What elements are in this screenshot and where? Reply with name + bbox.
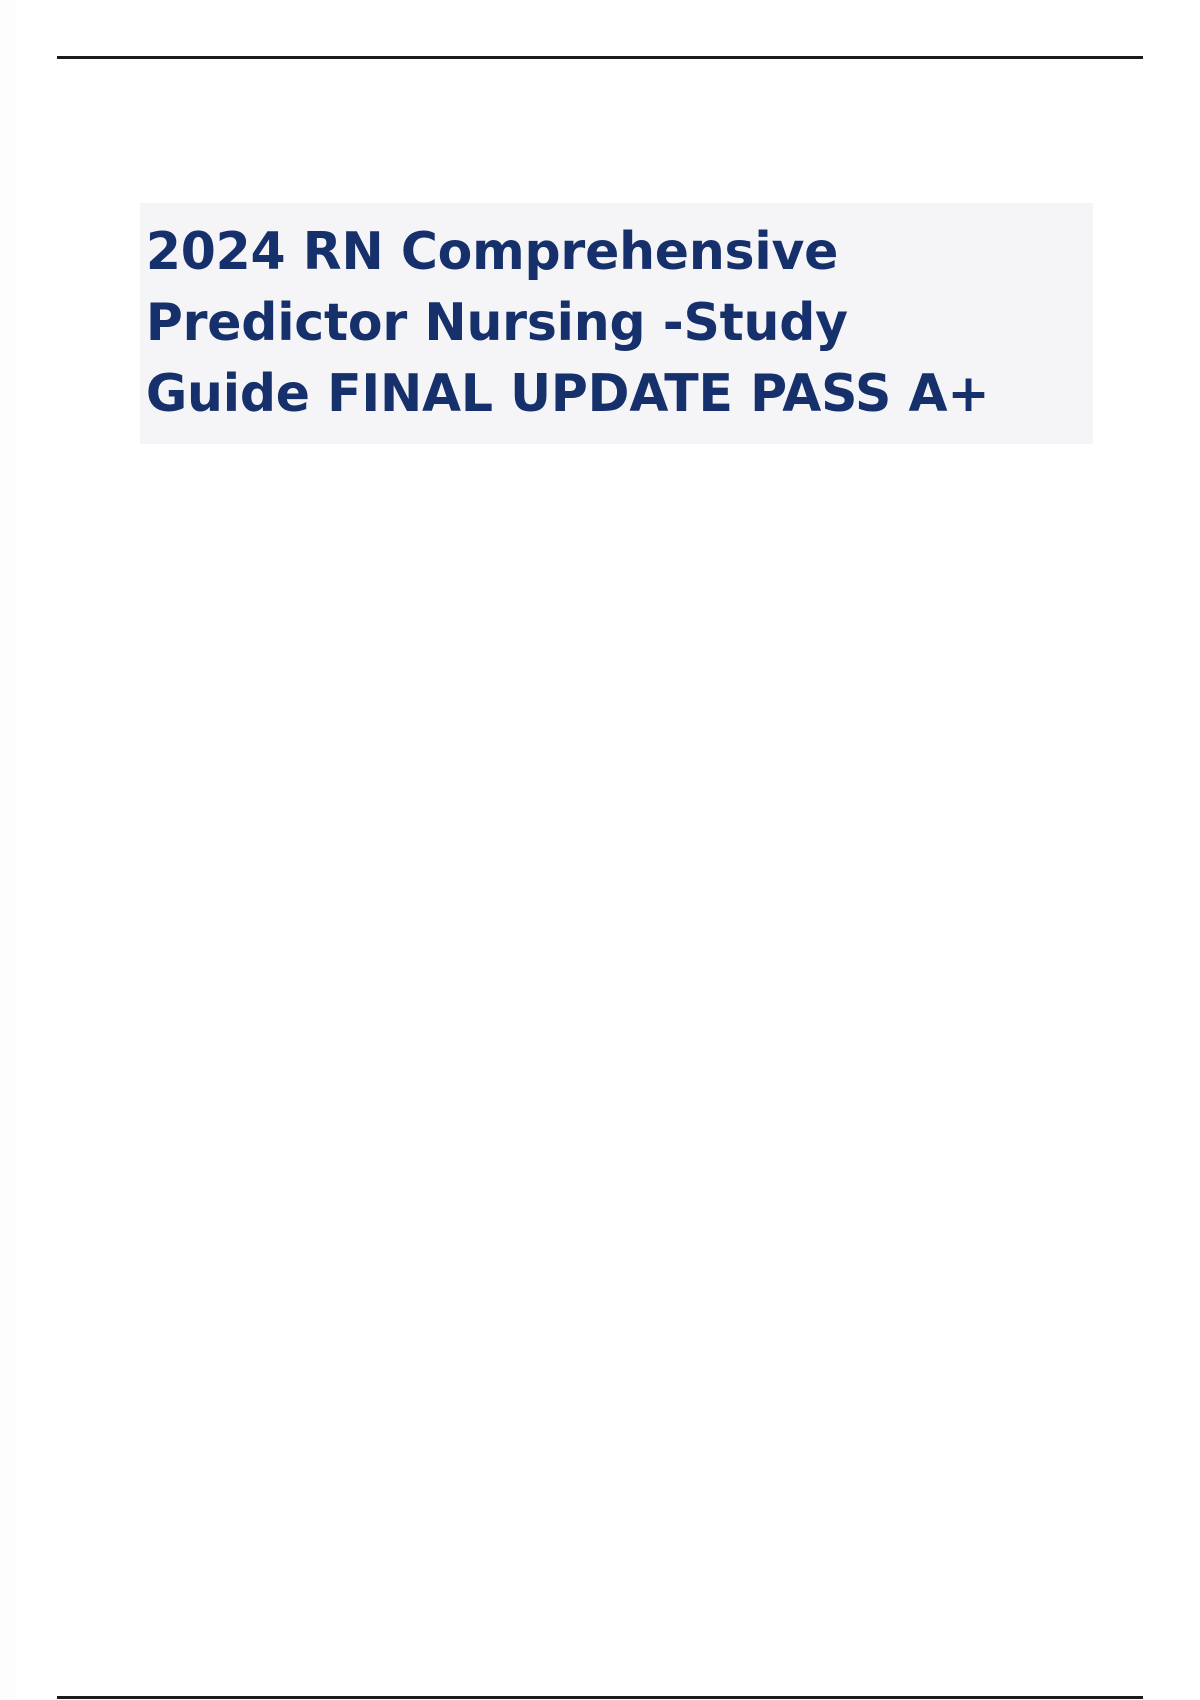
footer-divider-rule: [57, 1696, 1143, 1699]
page-title-line-2: Predictor Nursing -Study: [140, 288, 1064, 359]
page-title-line-3: Guide FINAL UPDATE PASS A+: [140, 359, 1064, 430]
document-page: 2024 RN Comprehensive Predictor Nursing …: [0, 0, 1200, 1700]
header-divider-rule: [57, 56, 1143, 59]
document-content-area: 2024 RN Comprehensive Predictor Nursing …: [57, 70, 1143, 1690]
document-title-highlight-block: 2024 RN Comprehensive Predictor Nursing …: [140, 203, 1093, 444]
page-title-line-1: 2024 RN Comprehensive: [140, 217, 1064, 288]
scan-edge-artifact: [0, 0, 16, 1700]
document-body-blank-area: [57, 450, 1143, 1680]
